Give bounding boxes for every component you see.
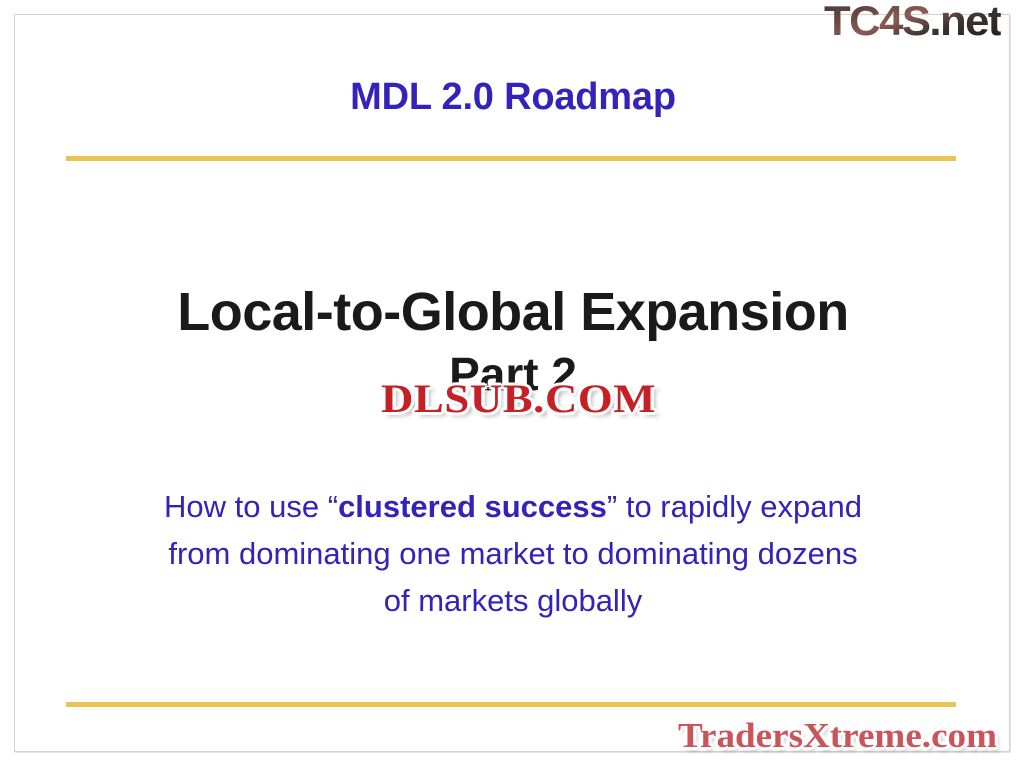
body-paragraph: How to use “clustered success” to rapidl… [163, 483, 863, 624]
watermark-dlsub: DLSUB.COM [381, 375, 656, 422]
body-lead: How to use “ [164, 489, 338, 524]
slide-title: MDL 2.0 Roadmap [15, 77, 1011, 119]
main-heading: Local-to-Global Expansion [15, 281, 1011, 345]
divider-top [66, 156, 956, 161]
divider-bottom [66, 702, 956, 707]
watermark-tc4s: TC4S.net [824, 0, 1001, 45]
slide-frame: MDL 2.0 Roadmap Local-to-Global Expansio… [14, 14, 1010, 752]
body-emphasis: clustered success [338, 489, 607, 524]
watermark-traders: TradersXtreme.com [678, 716, 997, 756]
